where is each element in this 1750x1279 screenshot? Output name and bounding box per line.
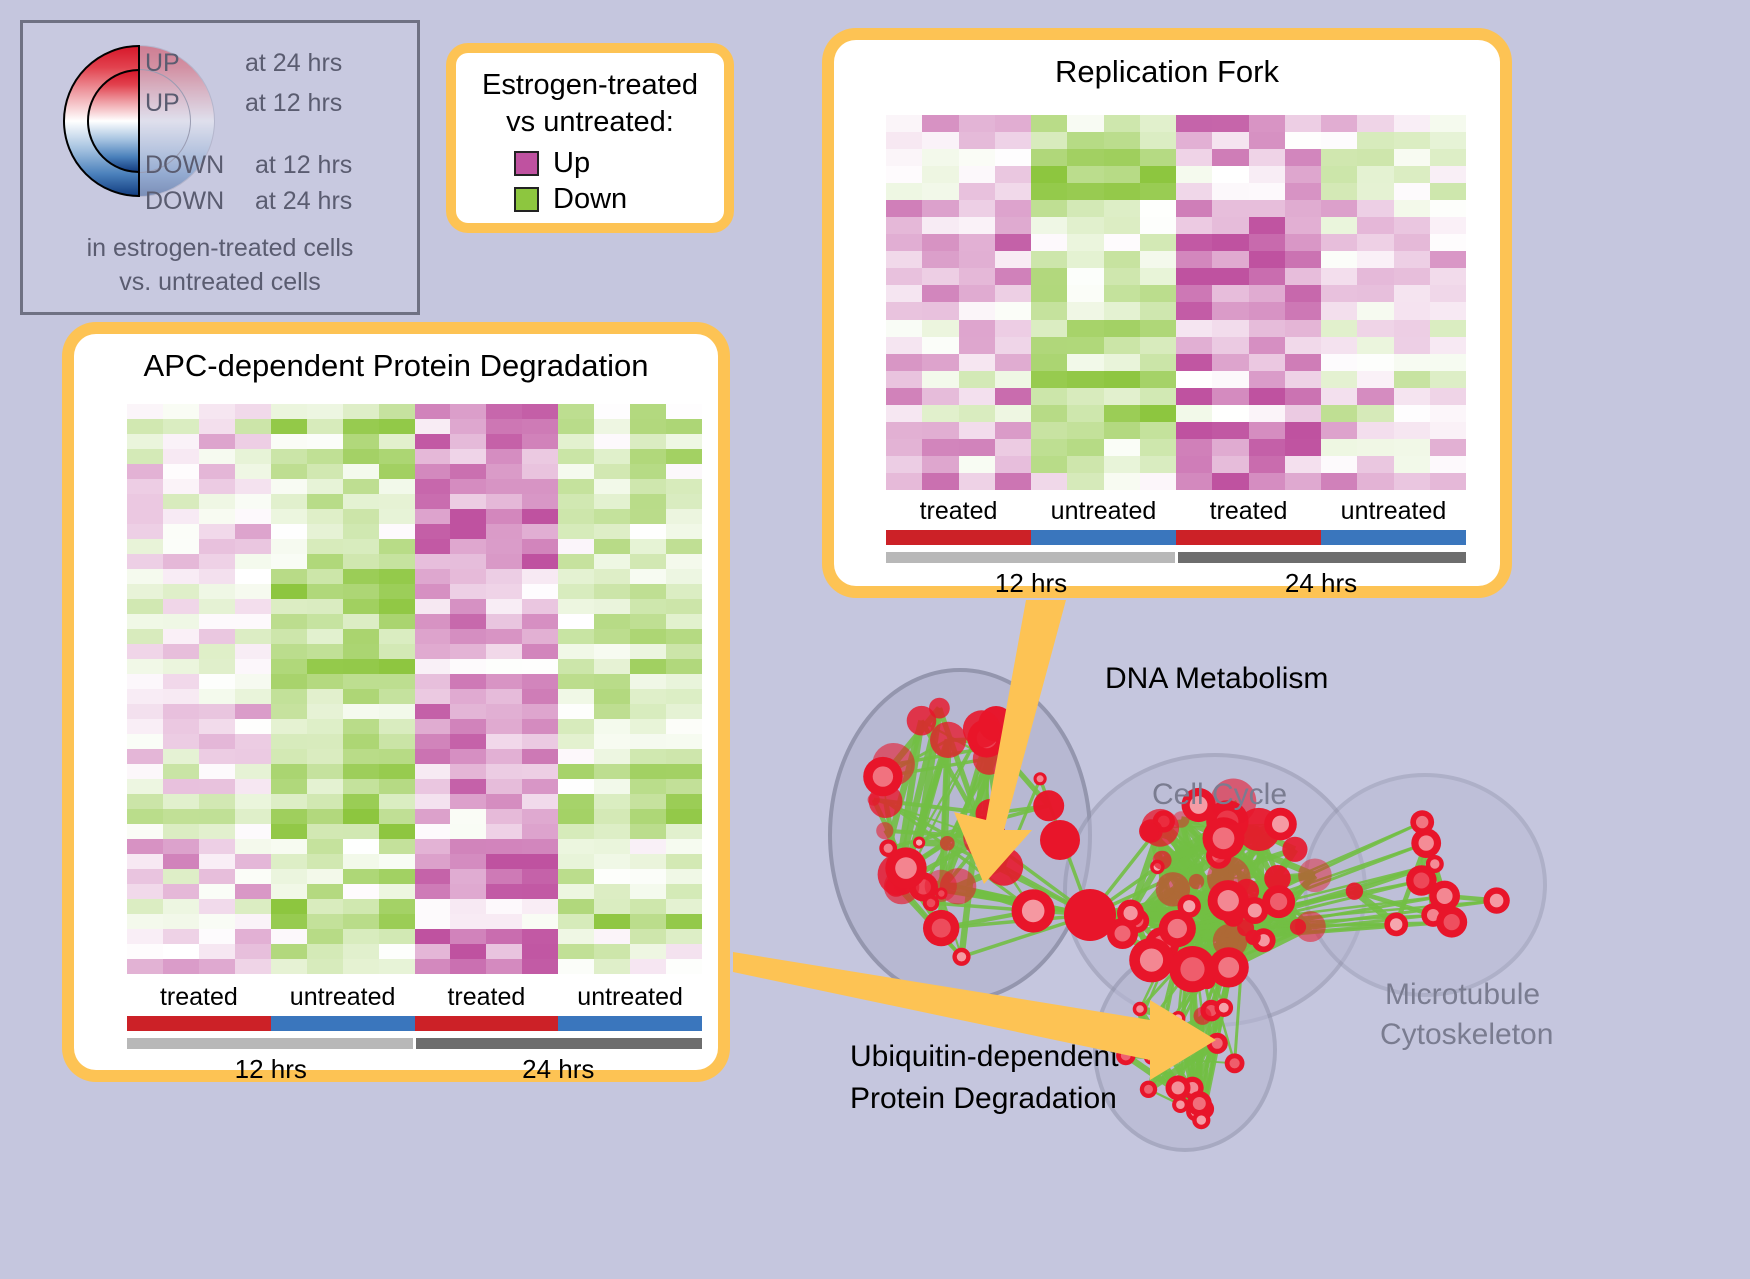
heatmap-cell — [271, 764, 307, 779]
heatmap-cell — [959, 405, 995, 422]
heatmap-cell — [127, 509, 163, 524]
heatmap-cell — [127, 779, 163, 794]
heatmap-cell — [1104, 371, 1140, 388]
heatmap-cell — [1285, 388, 1321, 405]
heatmap-cell — [1285, 285, 1321, 302]
heatmap-cell — [594, 899, 630, 914]
heatmap-cell — [1031, 166, 1067, 183]
heatmap-cell — [271, 674, 307, 689]
heatmap-cell — [343, 464, 379, 479]
network-node[interactable] — [930, 722, 966, 758]
heatmap-cell — [666, 479, 702, 494]
network-node[interactable] — [1153, 851, 1172, 870]
heatmap-cell — [922, 285, 958, 302]
heatmap-cell — [235, 509, 271, 524]
heatmap-cell — [995, 285, 1031, 302]
heatmap-cell — [1249, 285, 1285, 302]
heatmap-cell — [163, 569, 199, 584]
heatmap-cell — [127, 539, 163, 554]
heatmap-cell — [379, 629, 415, 644]
heatmap-cell — [163, 644, 199, 659]
heatmap-cell — [666, 704, 702, 719]
heatmap-cell — [1357, 405, 1393, 422]
heatmap-cell — [415, 464, 451, 479]
heatmap-cell — [594, 914, 630, 929]
heatmap-cell — [1104, 354, 1140, 371]
heatmap-cell — [343, 929, 379, 944]
heatmap-cell — [522, 419, 558, 434]
heatmap-cell — [1285, 371, 1321, 388]
heatmap-cell — [271, 509, 307, 524]
network-node-core — [873, 766, 893, 786]
heatmap-cell — [1394, 183, 1430, 200]
heatmap-cell — [1357, 337, 1393, 354]
heatmap-cell — [343, 884, 379, 899]
heatmap-cell — [307, 779, 343, 794]
heatmap-cell — [1249, 132, 1285, 149]
heatmap-cell — [1067, 234, 1103, 251]
heatmap-cell — [379, 494, 415, 509]
network-node-core — [1144, 1085, 1153, 1094]
heatmap-cell — [1212, 268, 1248, 285]
network-node[interactable] — [1189, 874, 1204, 889]
network-node[interactable] — [1040, 820, 1080, 860]
heatmap-cell — [594, 539, 630, 554]
heatmap-cell — [235, 449, 271, 464]
heatmap-cell — [594, 689, 630, 704]
heatmap-cell — [415, 494, 451, 509]
heatmap-cell — [1140, 251, 1176, 268]
heatmap-cell — [163, 464, 199, 479]
heatmap-cell — [522, 884, 558, 899]
heatmap-cell — [415, 824, 451, 839]
heatmap-cell — [343, 764, 379, 779]
heatmap-cell — [307, 959, 343, 974]
heatmap-cell — [594, 554, 630, 569]
heatmap-cell — [415, 644, 451, 659]
down-swatch-icon — [514, 187, 539, 212]
heatmap-cell — [558, 929, 594, 944]
heatmap-cell — [307, 809, 343, 824]
heatmap-cell — [450, 839, 486, 854]
cond-bar-treated-24 — [1176, 530, 1321, 545]
heatmap-cell — [127, 644, 163, 659]
heatmap-cell — [415, 749, 451, 764]
heatmap-cell — [594, 929, 630, 944]
updown-legend-card: Estrogen-treated vs untreated: Up Down — [446, 43, 734, 233]
heatmap-cell — [486, 479, 522, 494]
heatmap-cell — [1140, 337, 1176, 354]
heatmap-cell — [1357, 388, 1393, 405]
heatmap-cell — [379, 959, 415, 974]
heatmap-cell — [307, 449, 343, 464]
heatmap-cell — [959, 473, 995, 490]
network-node-core — [1419, 835, 1434, 850]
network-node-core — [1219, 1003, 1229, 1013]
heatmap-cell — [199, 524, 235, 539]
heatmap-cell — [271, 449, 307, 464]
heatmap-cell — [886, 234, 922, 251]
heatmap-cell — [1357, 217, 1393, 234]
heatmap-cell — [199, 839, 235, 854]
heatmap-cell — [1176, 183, 1212, 200]
heatmap-cell — [1357, 354, 1393, 371]
heatmap-cell — [1067, 456, 1103, 473]
heatmap-cell — [1176, 302, 1212, 319]
heatmap-cell — [666, 554, 702, 569]
heatmap-cell — [379, 659, 415, 674]
network-node-core — [1413, 873, 1429, 889]
heatmap-cell — [343, 839, 379, 854]
heatmap-cell — [1357, 439, 1393, 456]
heatmap-cell — [630, 644, 666, 659]
heatmap-cell — [199, 434, 235, 449]
heatmap-cell — [415, 734, 451, 749]
heatmap-apc-degradation — [127, 404, 702, 974]
heatmap-cell — [379, 764, 415, 779]
heatmap-cell — [594, 854, 630, 869]
heatmap-cell — [235, 764, 271, 779]
heatmap-cell — [1249, 166, 1285, 183]
heatmap-cell — [127, 584, 163, 599]
network-svg — [760, 600, 1750, 1279]
heatmap-cell — [594, 824, 630, 839]
heatmap-cell — [666, 929, 702, 944]
heatmap-cell — [450, 824, 486, 839]
heatmap-cell — [922, 422, 958, 439]
heatmap-cell — [127, 689, 163, 704]
heatmap-cell — [1176, 217, 1212, 234]
heatmap-cell — [486, 659, 522, 674]
heatmap-cell — [450, 719, 486, 734]
heatmap-cell — [1321, 473, 1357, 490]
network-node[interactable] — [929, 698, 950, 719]
heatmap-cell — [343, 479, 379, 494]
heatmap-cell — [1067, 354, 1103, 371]
figure-root: UP at 24 hrs UP at 12 hrs DOWN at 12 hrs… — [0, 0, 1750, 1279]
heatmap-cell — [307, 839, 343, 854]
heatmap-cell — [995, 388, 1031, 405]
network-node[interactable] — [985, 847, 1023, 885]
cluster-label-cytoskeleton: Cytoskeleton — [1380, 1018, 1553, 1052]
wheel-label-down-12: DOWN — [145, 151, 224, 180]
heatmap-cell — [1430, 439, 1466, 456]
network-node[interactable] — [940, 836, 955, 851]
updown-title-line2: vs untreated: — [472, 104, 708, 141]
heatmap-cell — [271, 689, 307, 704]
heatmap-cell — [1212, 354, 1248, 371]
heatmap-cell — [1067, 320, 1103, 337]
network-node[interactable] — [1194, 1007, 1212, 1025]
heatmap-cell — [1249, 200, 1285, 217]
heatmap-cell — [450, 434, 486, 449]
heatmap-cell — [343, 959, 379, 974]
heatmap-cell — [1394, 115, 1430, 132]
heatmap-cell — [1394, 251, 1430, 268]
heatmap-cell — [1140, 371, 1176, 388]
network-node[interactable] — [1173, 811, 1190, 828]
heatmap-cell — [1067, 200, 1103, 217]
network-node[interactable] — [876, 822, 893, 839]
heatmap-cell — [630, 899, 666, 914]
heatmap-cell — [199, 419, 235, 434]
heatmap-cell — [1176, 354, 1212, 371]
heatmap-cell — [307, 404, 343, 419]
heatmap-cell — [1176, 320, 1212, 337]
heatmap-cell — [594, 764, 630, 779]
heatmap-cell — [1285, 268, 1321, 285]
heatmap-cell — [1104, 320, 1140, 337]
heatmap-cell — [127, 419, 163, 434]
network-node[interactable] — [1282, 837, 1307, 862]
heatmap-cell — [379, 404, 415, 419]
network-node[interactable] — [1346, 883, 1363, 900]
heatmap-cell — [450, 674, 486, 689]
heatmap-cell — [1430, 166, 1466, 183]
heatmap-cell — [163, 929, 199, 944]
heatmap-cell — [666, 824, 702, 839]
heatmap-cell — [594, 614, 630, 629]
heatmap-cell — [1067, 371, 1103, 388]
heatmap-cell — [630, 884, 666, 899]
heatmap-cell — [558, 494, 594, 509]
heatmap-cell — [1430, 371, 1466, 388]
heatmap-cell — [163, 674, 199, 689]
panel-apc-degradation: APC-dependent Protein Degradation treate… — [62, 322, 730, 1082]
heatmap-cell — [522, 959, 558, 974]
heatmap-cell — [307, 914, 343, 929]
network-node-core — [1390, 918, 1402, 930]
wheel-time-up-24: at 24 hrs — [245, 49, 342, 78]
heatmap-cell — [886, 166, 922, 183]
heatmap-cell — [415, 599, 451, 614]
heatmap-cell — [1104, 268, 1140, 285]
heatmap-cell — [486, 644, 522, 659]
heatmap-cell — [1031, 149, 1067, 166]
heatmap-cell — [307, 584, 343, 599]
heatmap-cell — [450, 539, 486, 554]
network-node-core — [957, 952, 966, 961]
heatmap-cell — [995, 337, 1031, 354]
heatmap-cell — [271, 464, 307, 479]
heatmap-cell — [630, 914, 666, 929]
heatmap-cell — [1104, 439, 1140, 456]
heatmap-cell — [886, 285, 922, 302]
heatmap-cell — [379, 719, 415, 734]
heatmap-cell — [415, 944, 451, 959]
heatmap-cell — [127, 839, 163, 854]
heatmap-cell — [415, 509, 451, 524]
heatmap-cell — [1031, 388, 1067, 405]
heatmap-cell — [486, 854, 522, 869]
heatmap-cell — [307, 644, 343, 659]
heatmap-cell — [1031, 422, 1067, 439]
heatmap-cell — [1212, 422, 1248, 439]
heatmap-cell — [594, 449, 630, 464]
heatmap-cell — [922, 166, 958, 183]
network-node[interactable] — [1064, 889, 1116, 941]
heatmap-cell — [307, 884, 343, 899]
heatmap-cell — [995, 405, 1031, 422]
heatmap-cell — [995, 456, 1031, 473]
heatmap-cell — [666, 494, 702, 509]
heatmap-cell — [922, 132, 958, 149]
heatmap-cell — [450, 794, 486, 809]
heatmap-cell — [450, 524, 486, 539]
network-node-core — [1248, 904, 1262, 918]
wheel-inner-left-half — [87, 69, 139, 173]
heatmap-cell — [199, 809, 235, 824]
heatmap-cell — [1067, 115, 1103, 132]
heatmap-cell — [594, 749, 630, 764]
heatmap-cell — [271, 854, 307, 869]
heatmap-cell — [630, 839, 666, 854]
heatmap-cell — [995, 217, 1031, 234]
heatmap-cell — [1357, 166, 1393, 183]
heatmap-cell — [199, 464, 235, 479]
heatmap-cell — [1249, 149, 1285, 166]
heatmap-cell — [1176, 115, 1212, 132]
network-node-core — [1037, 775, 1044, 782]
heatmap-cell — [486, 569, 522, 584]
heatmap-cell — [630, 524, 666, 539]
heatmap-cell — [1067, 405, 1103, 422]
heatmap-cell — [163, 719, 199, 734]
heatmap-cell — [127, 959, 163, 974]
heatmap-cell — [486, 869, 522, 884]
heatmap-cell — [1031, 337, 1067, 354]
heatmap-cell — [1140, 217, 1176, 234]
heatmap-cell — [558, 944, 594, 959]
heatmap-cell — [630, 704, 666, 719]
heatmap-cell — [199, 599, 235, 614]
heatmap-cell — [379, 554, 415, 569]
heatmap-cell — [1212, 166, 1248, 183]
heatmap-cell — [379, 509, 415, 524]
heatmap-cell — [1104, 456, 1140, 473]
heatmap-cell — [1067, 166, 1103, 183]
heatmap-cell — [163, 584, 199, 599]
heatmap-cell — [1176, 234, 1212, 251]
heatmap-cell — [450, 809, 486, 824]
heatmap-cell — [163, 764, 199, 779]
heatmap-cell — [1394, 149, 1430, 166]
heatmap-cell — [666, 509, 702, 524]
updown-item-down: Down — [514, 181, 708, 217]
heatmap-cell — [415, 779, 451, 794]
heatmap-cell — [163, 659, 199, 674]
heatmap-cell — [1104, 337, 1140, 354]
heatmap-cell — [127, 824, 163, 839]
heatmap-cell — [630, 689, 666, 704]
heatmap-cell — [558, 434, 594, 449]
heatmap-cell — [379, 749, 415, 764]
heatmap-cell — [522, 584, 558, 599]
heatmap-cell — [1430, 405, 1466, 422]
cond-label-1: untreated — [271, 982, 415, 1013]
heatmap-cell — [558, 419, 594, 434]
heatmap-cell — [343, 794, 379, 809]
heatmap-cell — [127, 434, 163, 449]
heatmap-cell — [1430, 285, 1466, 302]
heatmap-cell — [450, 479, 486, 494]
heatmap-cell — [995, 251, 1031, 268]
heatmap-cell — [995, 473, 1031, 490]
heatmap-cell — [1321, 337, 1357, 354]
heatmap-cell — [343, 719, 379, 734]
heatmap-cell — [235, 524, 271, 539]
network-node[interactable] — [963, 710, 1001, 748]
heatmap-cell — [415, 839, 451, 854]
heatmap-cell — [1212, 456, 1248, 473]
heatmap-cell — [1249, 456, 1285, 473]
heatmap-cell — [1285, 320, 1321, 337]
heatmap-cell — [127, 614, 163, 629]
updown-item-up: Up — [514, 145, 708, 181]
heatmap-cell — [379, 839, 415, 854]
heatmap-cell — [1357, 268, 1393, 285]
network-node[interactable] — [1156, 872, 1190, 906]
network-node[interactable] — [1295, 911, 1326, 942]
heatmap-cell — [379, 674, 415, 689]
heatmap-cell — [343, 524, 379, 539]
heatmap-cell — [1067, 251, 1103, 268]
network-node[interactable] — [1298, 859, 1332, 893]
heatmap-cell — [307, 464, 343, 479]
heatmap-cell — [1321, 422, 1357, 439]
heatmap-cell — [486, 884, 522, 899]
heatmap-cell — [666, 719, 702, 734]
heatmap-cell — [1212, 251, 1248, 268]
network-graph: DNA Metabolism Cell Cycle Microtubule Cy… — [760, 600, 1750, 1279]
heatmap-cell — [343, 569, 379, 584]
heatmap-cell — [922, 405, 958, 422]
heatmap-cell — [1357, 251, 1393, 268]
heatmap-cell — [271, 734, 307, 749]
heatmap-cell — [163, 809, 199, 824]
heatmap-cell — [959, 200, 995, 217]
heatmap-cell — [1031, 217, 1067, 234]
heatmap-cell — [343, 494, 379, 509]
heatmap-cell — [343, 944, 379, 959]
heatmap-cell — [1430, 217, 1466, 234]
heatmap-cell — [886, 473, 922, 490]
heatmap-cell — [959, 439, 995, 456]
heatmap-cell — [1212, 217, 1248, 234]
heatmap-cell — [594, 704, 630, 719]
heatmap-cell — [1212, 371, 1248, 388]
network-node[interactable] — [1141, 823, 1159, 841]
heatmap-cell — [450, 449, 486, 464]
heatmap-cell — [666, 539, 702, 554]
heatmap-cell — [959, 149, 995, 166]
heatmap-cell — [1212, 320, 1248, 337]
heatmap-cell — [594, 599, 630, 614]
network-node[interactable] — [1033, 790, 1064, 821]
heatmap-cell — [271, 599, 307, 614]
heatmap-cell — [415, 659, 451, 674]
network-node[interactable] — [1245, 930, 1260, 945]
heatmap-cell — [1140, 422, 1176, 439]
heatmap-cell — [307, 479, 343, 494]
heatmap-cell — [558, 644, 594, 659]
network-node[interactable] — [976, 799, 1005, 828]
heatmap-cell — [235, 839, 271, 854]
heatmap-cell — [959, 456, 995, 473]
heatmap-cell — [922, 268, 958, 285]
heatmap-cell — [271, 944, 307, 959]
heatmap-cell — [522, 734, 558, 749]
